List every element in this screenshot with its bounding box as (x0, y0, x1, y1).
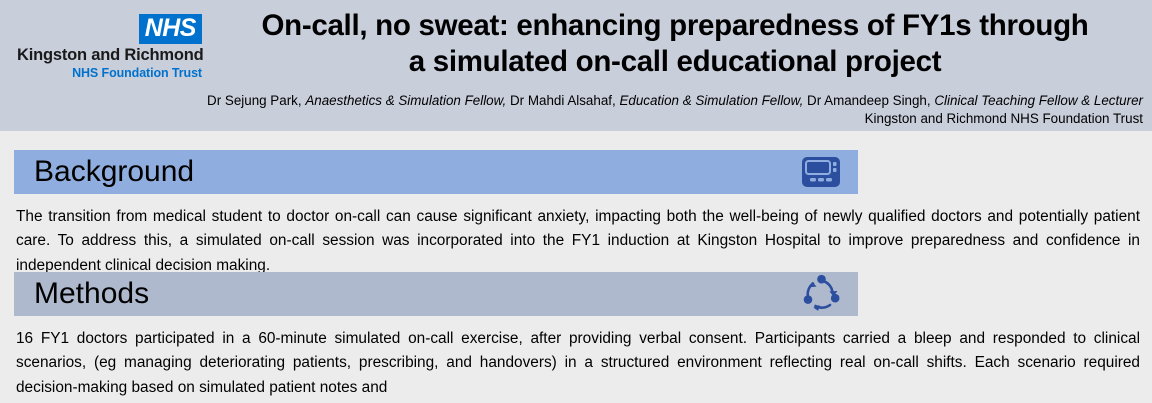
section-title-background: Background (34, 155, 194, 189)
author-1-role: Anaesthetics & Simulation Fellow, (305, 93, 506, 108)
section-header-background: Background (14, 150, 858, 194)
author-3-role: Clinical Teaching Fellow & Lecturer (934, 93, 1143, 108)
poster-title: On-call, no sweat: enhancing preparednes… (205, 8, 1145, 80)
poster-title-line-2: a simulated on-call educational project (205, 44, 1145, 80)
affiliation-label: Kingston and Richmond NHS Foundation Tru… (12, 110, 1143, 128)
trust-name-label: Kingston and Richmond (17, 46, 202, 65)
pager-icon (798, 152, 844, 192)
author-2-name: Dr Mahdi Alsahaf, (510, 93, 616, 108)
author-2-role: Education & Simulation Fellow, (619, 93, 803, 108)
author-1-name: Dr Sejung Park, (207, 93, 302, 108)
nhs-logo-icon: NHS (139, 14, 202, 44)
section-header-methods: Methods (14, 272, 858, 316)
section-body-methods: 16 FY1 doctors participated in a 60-minu… (16, 327, 1140, 400)
author-3-name: Dr Amandeep Singh, (807, 93, 931, 108)
cycle-arrows-icon (798, 274, 844, 314)
poster-content: Background The transition from medical s… (0, 131, 1152, 403)
poster-banner: NHS Kingston and Richmond NHS Foundation… (0, 0, 1152, 131)
section-body-background: The transition from medical student to d… (16, 205, 1140, 278)
trust-subtitle-label: NHS Foundation Trust (17, 66, 202, 81)
poster-title-line-1: On-call, no sweat: enhancing preparednes… (205, 8, 1145, 44)
authors-block: Dr Sejung Park, Anaesthetics & Simulatio… (12, 92, 1143, 127)
nhs-trust-logo: NHS Kingston and Richmond NHS Foundation… (17, 14, 202, 81)
section-title-methods: Methods (34, 277, 149, 311)
authors-line: Dr Sejung Park, Anaesthetics & Simulatio… (12, 92, 1143, 110)
